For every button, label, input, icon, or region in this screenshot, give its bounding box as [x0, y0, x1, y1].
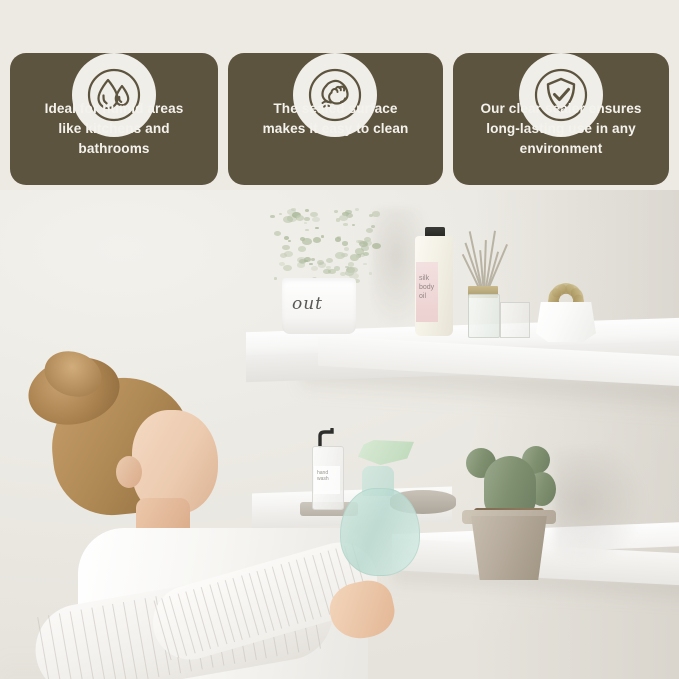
feature-card-easy-clean[interactable]: The sealed surface makes it easy to clea… — [228, 53, 443, 185]
mint-spray-bottle — [340, 488, 420, 576]
ear — [116, 456, 142, 488]
feature-card-text: Ideal for humid areas like kitchens and … — [18, 99, 210, 159]
geometric-planter — [536, 302, 596, 342]
glass-votive — [500, 302, 530, 338]
feature-card-band: Ideal for humid areas like kitchens and … — [0, 0, 679, 190]
feature-card-text: The sealed surface makes it easy to clea… — [236, 99, 435, 139]
planter-label: out — [292, 294, 323, 314]
feature-card-long-lasting[interactable]: Our clear sealer ensures long-lasting us… — [453, 53, 669, 185]
bottle-label: silk body oil — [416, 262, 438, 322]
cactus-shadow — [554, 448, 648, 568]
feature-card-text: Our clear sealer ensures long-lasting us… — [461, 99, 661, 159]
white-planter: out — [282, 278, 356, 334]
bottle-label-text: silk body oil — [419, 274, 438, 301]
terracotta-pot — [466, 516, 552, 580]
child-figure — [0, 350, 380, 679]
feature-card-humid-areas[interactable]: Ideal for humid areas like kitchens and … — [10, 53, 218, 185]
product-photo-scene: out silk body oil hand wash — [0, 190, 679, 679]
reed-diffuser — [468, 294, 500, 338]
green-foliage — [262, 198, 380, 282]
infographic-canvas: Ideal for humid areas like kitchens and … — [0, 0, 679, 679]
wall-shading — [469, 190, 679, 679]
